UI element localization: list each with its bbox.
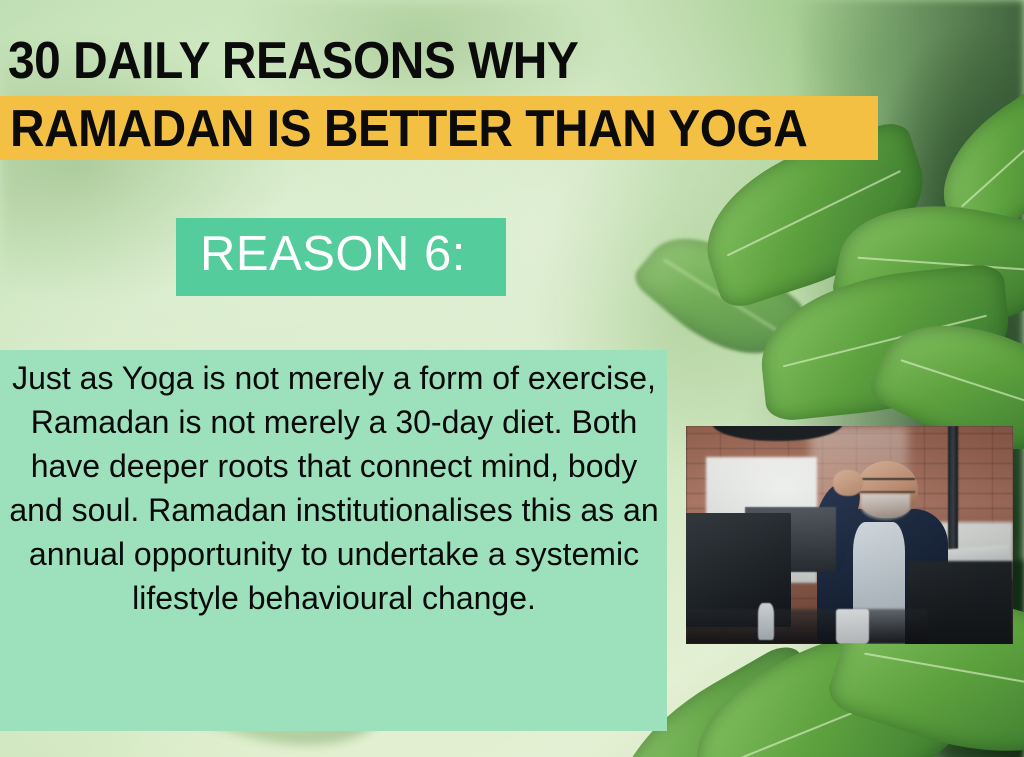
photo-vignette [686,426,1013,644]
heading-line-2: RAMADAN IS BETTER THAN YOGA [10,101,807,158]
heading-line-1: 30 DAILY REASONS WHY [8,34,578,89]
body-text: Just as Yoga is not merely a form of exe… [8,356,660,620]
office-photo [686,426,1013,644]
reason-label-text: REASON 6: [200,226,466,282]
slide-canvas: 30 DAILY REASONS WHY RAMADAN IS BETTER T… [0,0,1024,757]
